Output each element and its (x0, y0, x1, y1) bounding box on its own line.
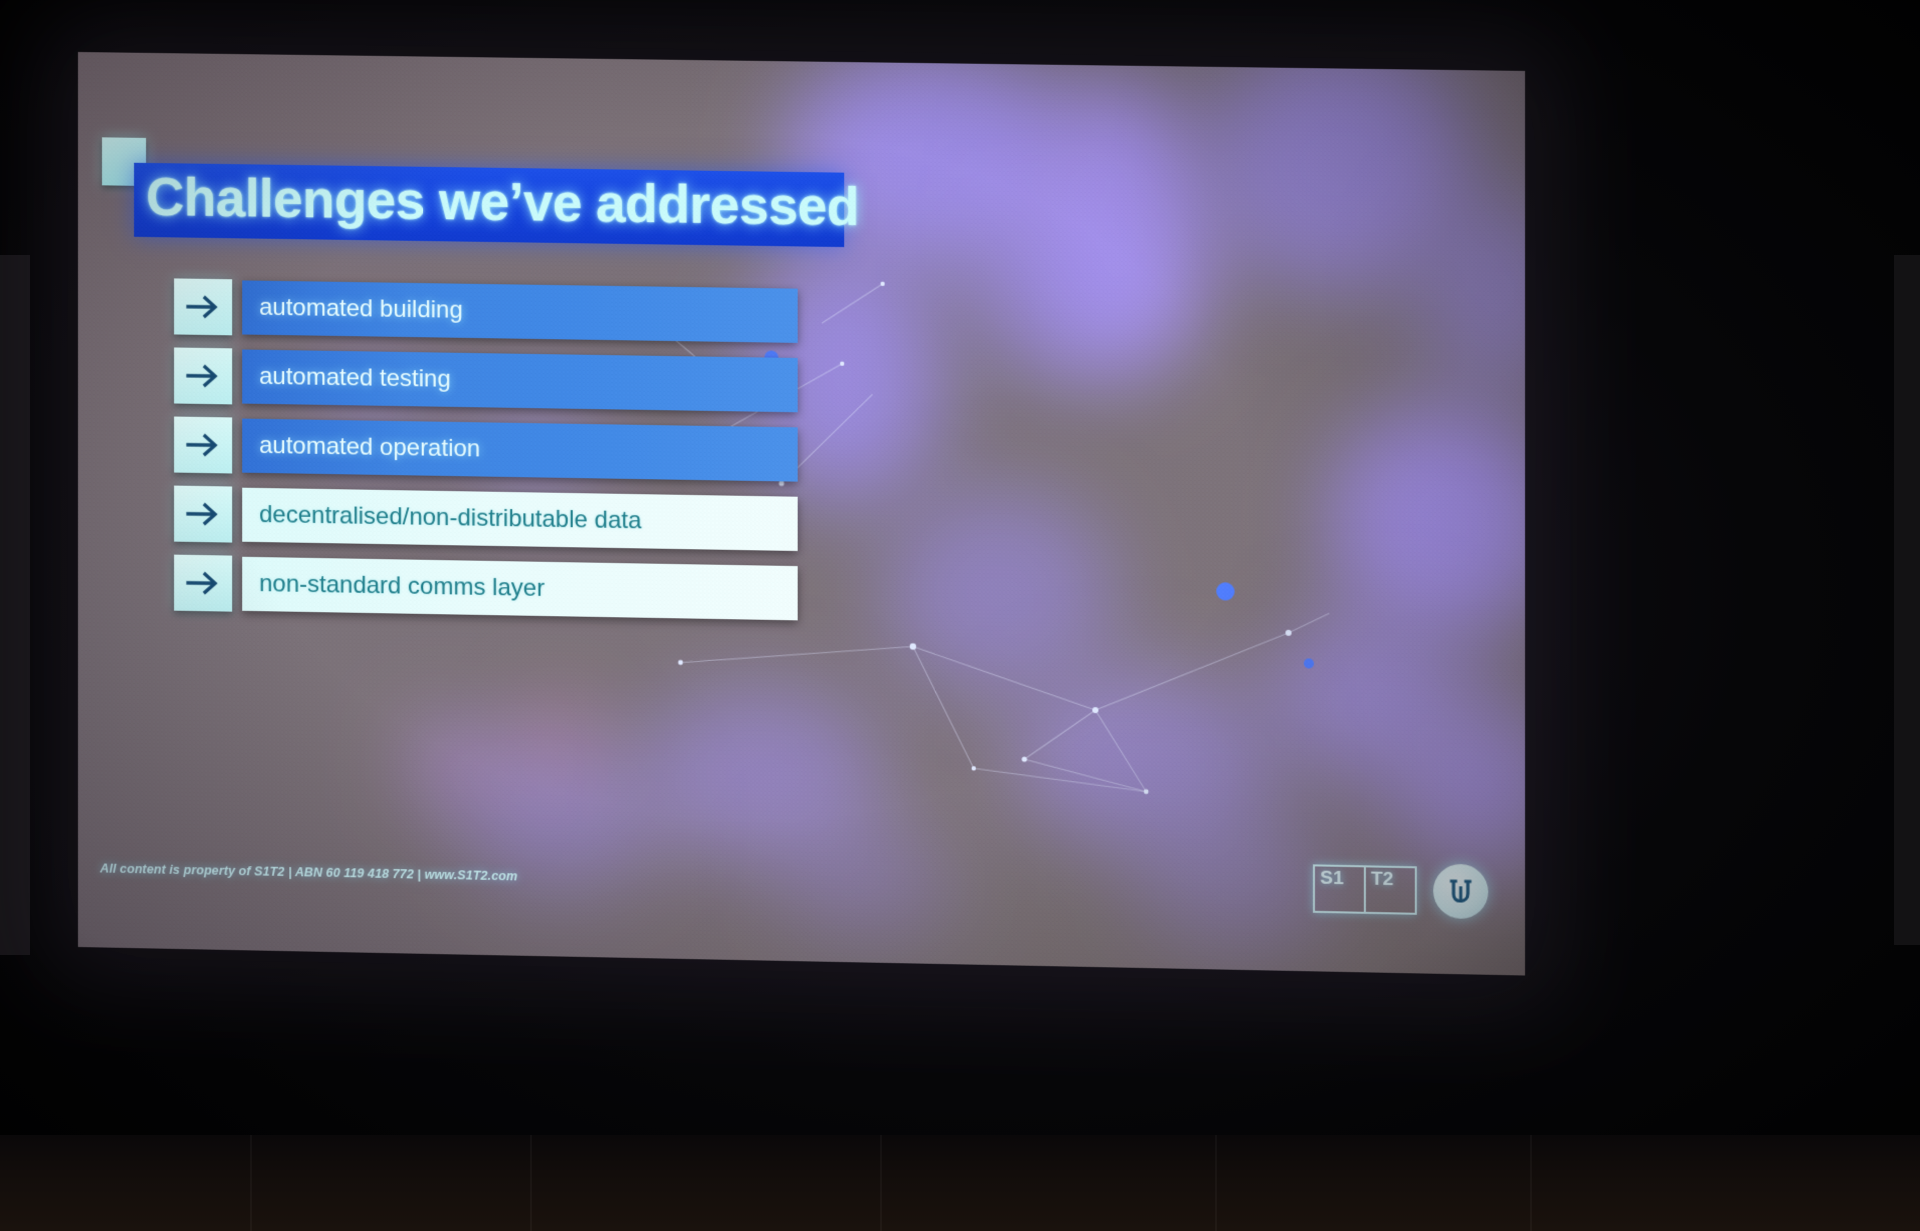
footer-badges: S1 T2 (1313, 861, 1488, 919)
list-item-label: non-standard comms layer (242, 570, 544, 603)
unreal-engine-logo-icon (1433, 864, 1488, 920)
wall-panel-right (1894, 255, 1920, 945)
list-item[interactable]: automated testing (174, 347, 798, 413)
list-item[interactable]: decentralised/non-distributable data (174, 486, 798, 552)
list-item[interactable]: non-standard comms layer (174, 555, 798, 622)
badge-pair: S1 T2 (1313, 864, 1417, 914)
list-item-label: automated operation (242, 432, 480, 464)
list-item[interactable]: automated building (174, 278, 798, 343)
bullet-list: automated building automated testing (174, 278, 798, 634)
projection-screen: Challenges we’ve addressed automated bui… (78, 52, 1525, 976)
slide-title-band: Challenges we’ve addressed (134, 163, 844, 247)
badge-t2: T2 (1366, 867, 1415, 912)
arrow-right-icon (174, 486, 232, 543)
wall-panel-left (0, 255, 30, 955)
list-item-bar: decentralised/non-distributable data (242, 488, 798, 551)
footer-copyright: All content is property of S1T2 | ABN 60… (100, 861, 517, 883)
list-item-bar: automated operation (242, 419, 798, 482)
list-item-bar: automated testing (242, 350, 798, 413)
arrow-right-icon (174, 278, 232, 335)
badge-t2-label: T2 (1371, 868, 1394, 891)
arrow-right-icon (174, 555, 232, 612)
page-title: Challenges we’ve addressed (134, 166, 873, 244)
slide-content: Challenges we’ve addressed automated bui… (78, 52, 1525, 976)
arrow-right-icon (174, 347, 232, 404)
list-item-label: decentralised/non-distributable data (242, 501, 641, 536)
list-item-label: automated testing (242, 363, 451, 394)
list-item-bar: automated building (242, 280, 798, 342)
arrow-right-icon (174, 417, 232, 474)
badge-s1-label: S1 (1320, 868, 1344, 891)
list-item[interactable]: automated operation (174, 417, 798, 483)
badge-s1: S1 (1315, 866, 1366, 911)
list-item-label: automated building (242, 293, 463, 324)
floor-strip (0, 1135, 1920, 1231)
list-item-bar: non-standard comms layer (242, 557, 798, 621)
